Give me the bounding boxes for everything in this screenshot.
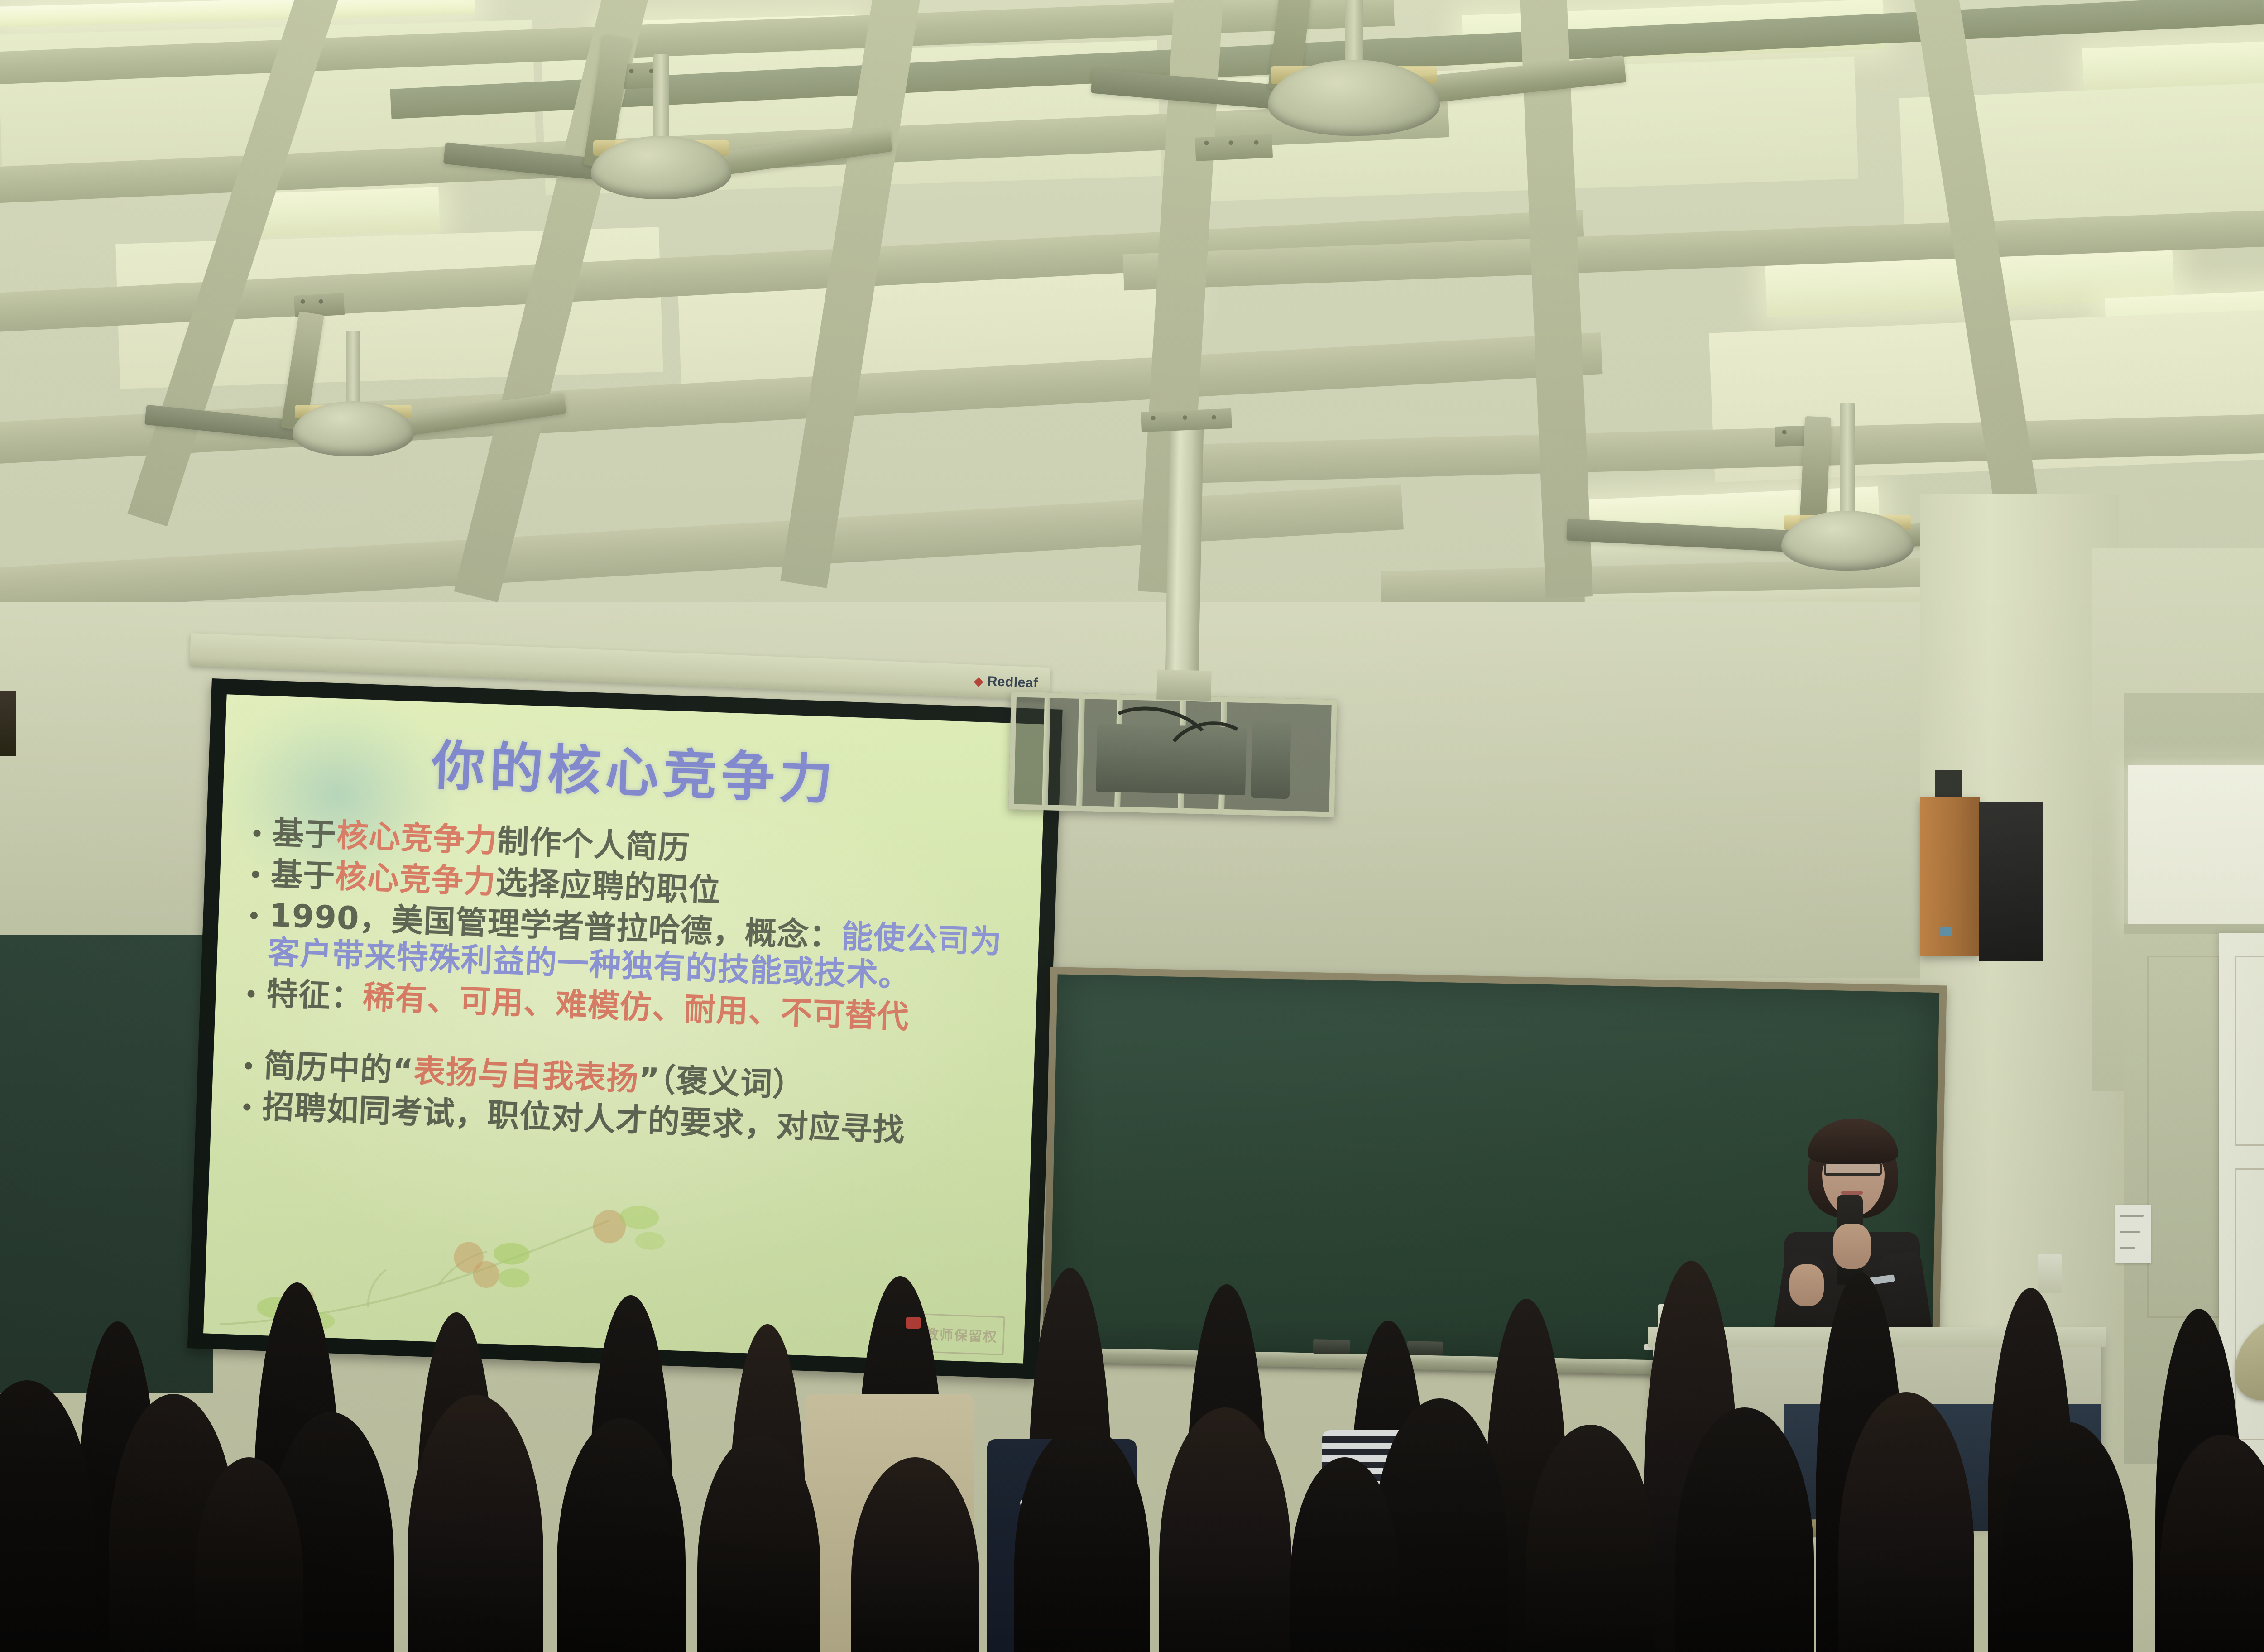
door-upper-panel (2235, 956, 2264, 1146)
ceiling-fan-2 (457, 86, 865, 235)
projector-mount-pole (1165, 421, 1204, 702)
transom-window (2128, 765, 2264, 924)
bullet-seg: ”（褒义词） (638, 1061, 806, 1104)
ceiling-fan-1 (1127, 0, 1580, 163)
transom-frame-bottom (2124, 924, 2264, 934)
cage-bar (1076, 699, 1085, 806)
bullet-dot-icon (245, 1062, 252, 1070)
speaker-badge (1940, 927, 1952, 936)
bullet-dot-icon (243, 1103, 251, 1111)
ceiling-fan-3 (168, 358, 539, 494)
notice-line (2120, 1215, 2144, 1217)
slide-bullet-list: 基于核心竞争力制作个人简历 基于核心竞争力选择应聘的职位 1990，美国管理学者… (243, 814, 1024, 1157)
bullet-dot-icon (250, 912, 258, 920)
transom-frame (2124, 754, 2264, 766)
bullet-seg: 选择应聘的职位 (495, 864, 721, 909)
projector-cage[interactable] (1008, 692, 1337, 817)
ceiling-light-panel-1 (257, 187, 440, 237)
presenter-hair-fringe (1808, 1119, 1898, 1164)
fan-downrod (1840, 403, 1855, 516)
fan-downrod (1345, 0, 1363, 68)
notice-line (2120, 1231, 2140, 1233)
projector-cage-hanger (1156, 670, 1212, 701)
bullet-dot-icon (247, 990, 255, 998)
bullet-seg: 特征： (266, 975, 364, 1016)
speaker-grille (1979, 802, 2043, 961)
bullet-seg: 基于 (270, 855, 336, 895)
bullet-dot-icon (252, 871, 259, 879)
bullet-seg: 基于 (272, 814, 337, 854)
left-wall-small-object (0, 691, 16, 756)
lecture-hall-photo: ◆ Redleaf 你的核心竞争力 基于核心竞争力制作个人简历 基于核心竞争力选… (0, 0, 2264, 1652)
presenter-glasses (1824, 1162, 1882, 1176)
slide-title: 你的核心竞争力 (223, 714, 1046, 821)
speaker-bracket (1935, 770, 1962, 798)
red-hair-tie (906, 1317, 921, 1329)
fan-downrod (653, 54, 669, 145)
screen-brand-text: Redleaf (987, 674, 1038, 691)
audience-head-front (1159, 1407, 1291, 1652)
presenter-lips (1841, 1191, 1863, 1195)
wall-speaker (1920, 797, 1980, 956)
screen-brand-label: ◆ Redleaf (974, 673, 1038, 692)
bullet-dot-icon (253, 830, 261, 837)
bullet-seg: 制作个人简历 (497, 822, 691, 867)
bullet-seg-highlight: 核心竞争力 (336, 816, 498, 860)
fan-downrod (346, 331, 360, 412)
projector-side-module (1251, 721, 1291, 799)
brand-dot-icon: ◆ (974, 674, 984, 688)
cage-bar (1042, 698, 1050, 805)
bullet-seg: 简历中的“ (263, 1047, 414, 1090)
projector-pole-ceiling-plate (1141, 408, 1232, 432)
audience (0, 1244, 2264, 1652)
bullet-seg-highlight: 表扬与自我表扬 (413, 1052, 639, 1098)
bullet-seg-highlight: 核心竞争力 (335, 858, 497, 901)
audience-head-front (0, 1380, 95, 1652)
